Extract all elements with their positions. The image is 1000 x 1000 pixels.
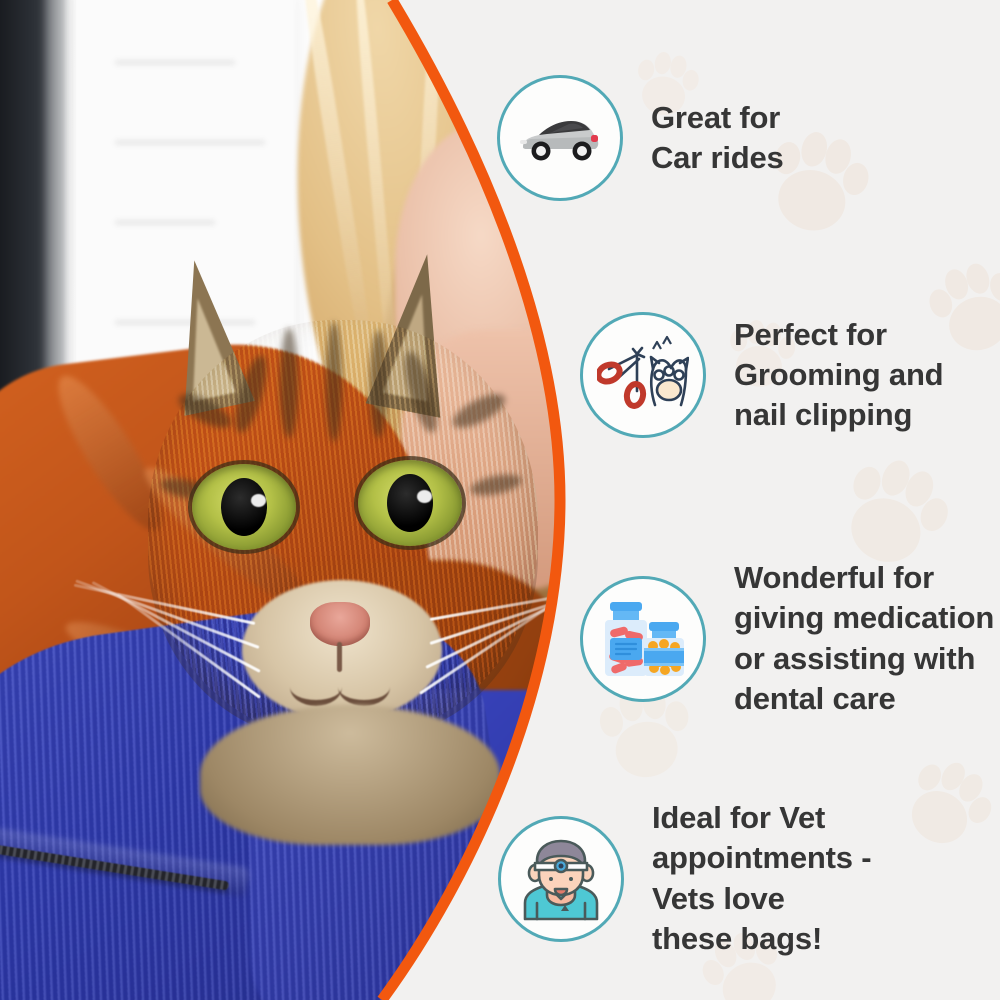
veterinarian-icon <box>517 837 605 921</box>
car-icon <box>517 109 603 167</box>
feature-label: Ideal for Vet appointments - Vets love t… <box>652 798 871 959</box>
feature-item-grooming: Perfect for Grooming and nail clipping <box>580 312 943 438</box>
feature-label: Great for Car rides <box>651 98 784 179</box>
feature-item-vet: Ideal for Vet appointments - Vets love t… <box>498 798 871 959</box>
nail-clipper-paw-icon <box>597 335 689 415</box>
car-icon-badge <box>497 75 623 201</box>
pill-bottles-icon <box>597 596 689 682</box>
veterinarian-icon-badge <box>498 816 624 942</box>
pill-bottles-icon-badge <box>580 576 706 702</box>
feature-item-medication: Wonderful for giving medication or assis… <box>580 558 994 719</box>
cat-photo-subject <box>130 250 570 810</box>
feature-label: Wonderful for giving medication or assis… <box>734 558 994 719</box>
feature-label: Perfect for Grooming and nail clipping <box>734 315 943 436</box>
feature-item-car-rides: Great for Car rides <box>497 75 784 201</box>
nail-clipper-paw-icon-badge <box>580 312 706 438</box>
infographic-canvas: Great for Car rides <box>0 0 1000 1000</box>
